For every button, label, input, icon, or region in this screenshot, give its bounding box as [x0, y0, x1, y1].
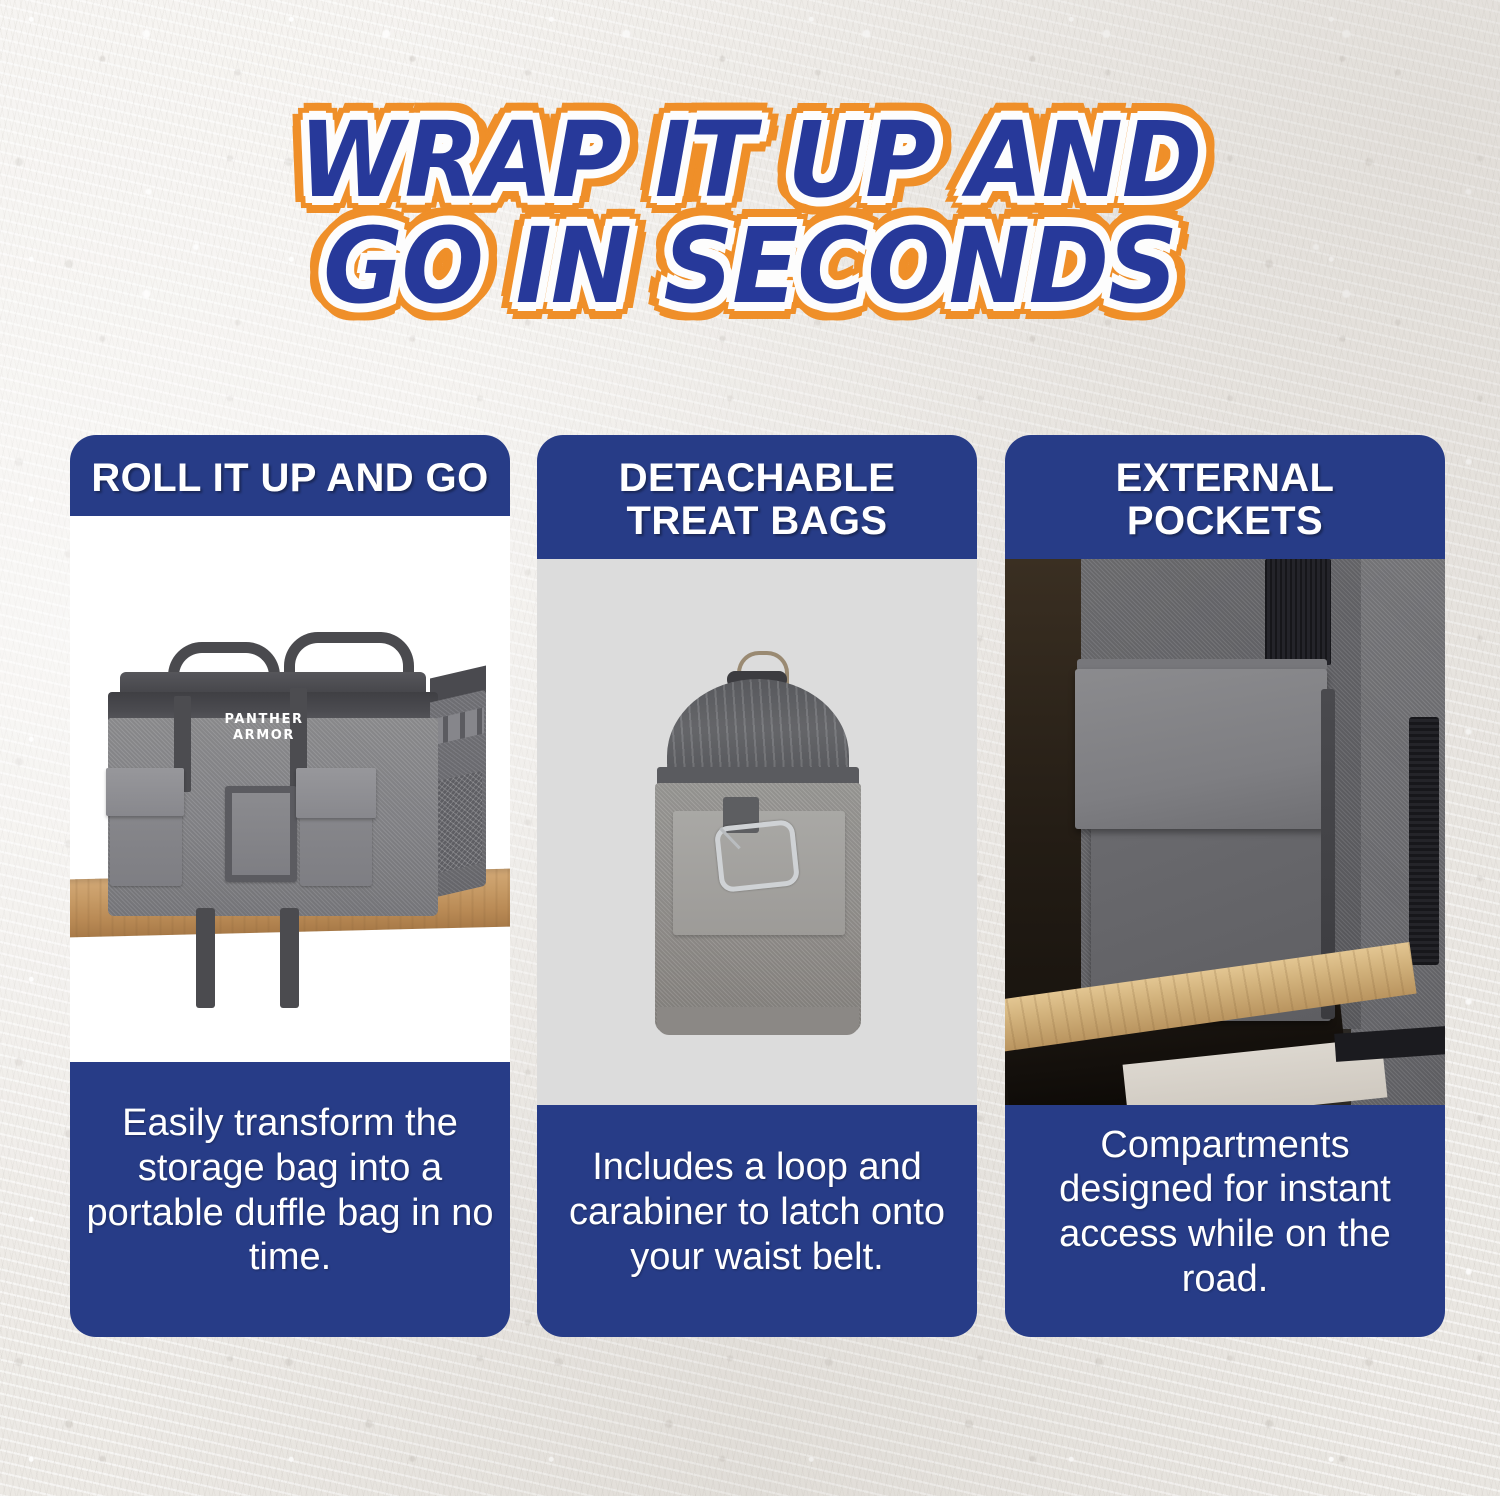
product-photo-storage-bag: PANTHER ARMOR: [70, 516, 510, 1062]
brand-logo: PANTHER ARMOR: [204, 712, 324, 744]
card-title: DETACHABLE TREAT BAGS: [537, 435, 977, 559]
card-title: EXTERNAL POCKETS: [1005, 435, 1445, 559]
black-webbing-strap: [1265, 559, 1331, 665]
card-title: ROLL IT UP AND GO: [70, 435, 510, 516]
brand-logo-line-1: PANTHER: [224, 712, 303, 727]
hanging-strap-left: [196, 908, 215, 1008]
card-caption: Includes a loop and carabiner to latch o…: [537, 1105, 977, 1337]
front-pocket-center: [225, 786, 297, 882]
pocket-flap-right: [296, 768, 376, 818]
treat-bag: [655, 617, 861, 1037]
mesh-side-pocket: [436, 771, 482, 874]
card-caption: Easily transform the storage bag into a …: [70, 1062, 510, 1337]
pocket-flap: [1075, 669, 1327, 829]
bag-base: [657, 1007, 859, 1035]
headline-line-2: GO IN SECONDS: [53, 218, 1448, 316]
headline: WRAP IT UP AND GO IN SECONDS: [0, 112, 1500, 316]
velcro-strip: [1409, 717, 1439, 965]
card-caption: Compartments designed for instant access…: [1005, 1105, 1445, 1337]
feature-card-external-pockets: EXTERNAL POCKETS Compartments designed f…: [1005, 435, 1445, 1337]
carabiner-icon: [714, 819, 800, 893]
pocket-flap-left: [106, 768, 184, 816]
feature-card-list: ROLL IT UP AND GO: [0, 435, 1500, 1340]
headline-line-1: WRAP IT UP AND: [53, 112, 1448, 210]
feature-card-detachable-treat-bags: DETACHABLE TREAT BAGS Includes a loop an…: [537, 435, 977, 1337]
product-photo-treat-bag: [537, 559, 977, 1105]
hanging-strap-right: [280, 908, 299, 1008]
feature-card-roll-it-up-and-go: ROLL IT UP AND GO: [70, 435, 510, 1337]
brand-logo-line-2: ARMOR: [233, 728, 295, 743]
product-photo-external-pocket: [1005, 559, 1445, 1105]
storage-bag: PANTHER ARMOR: [100, 626, 485, 926]
